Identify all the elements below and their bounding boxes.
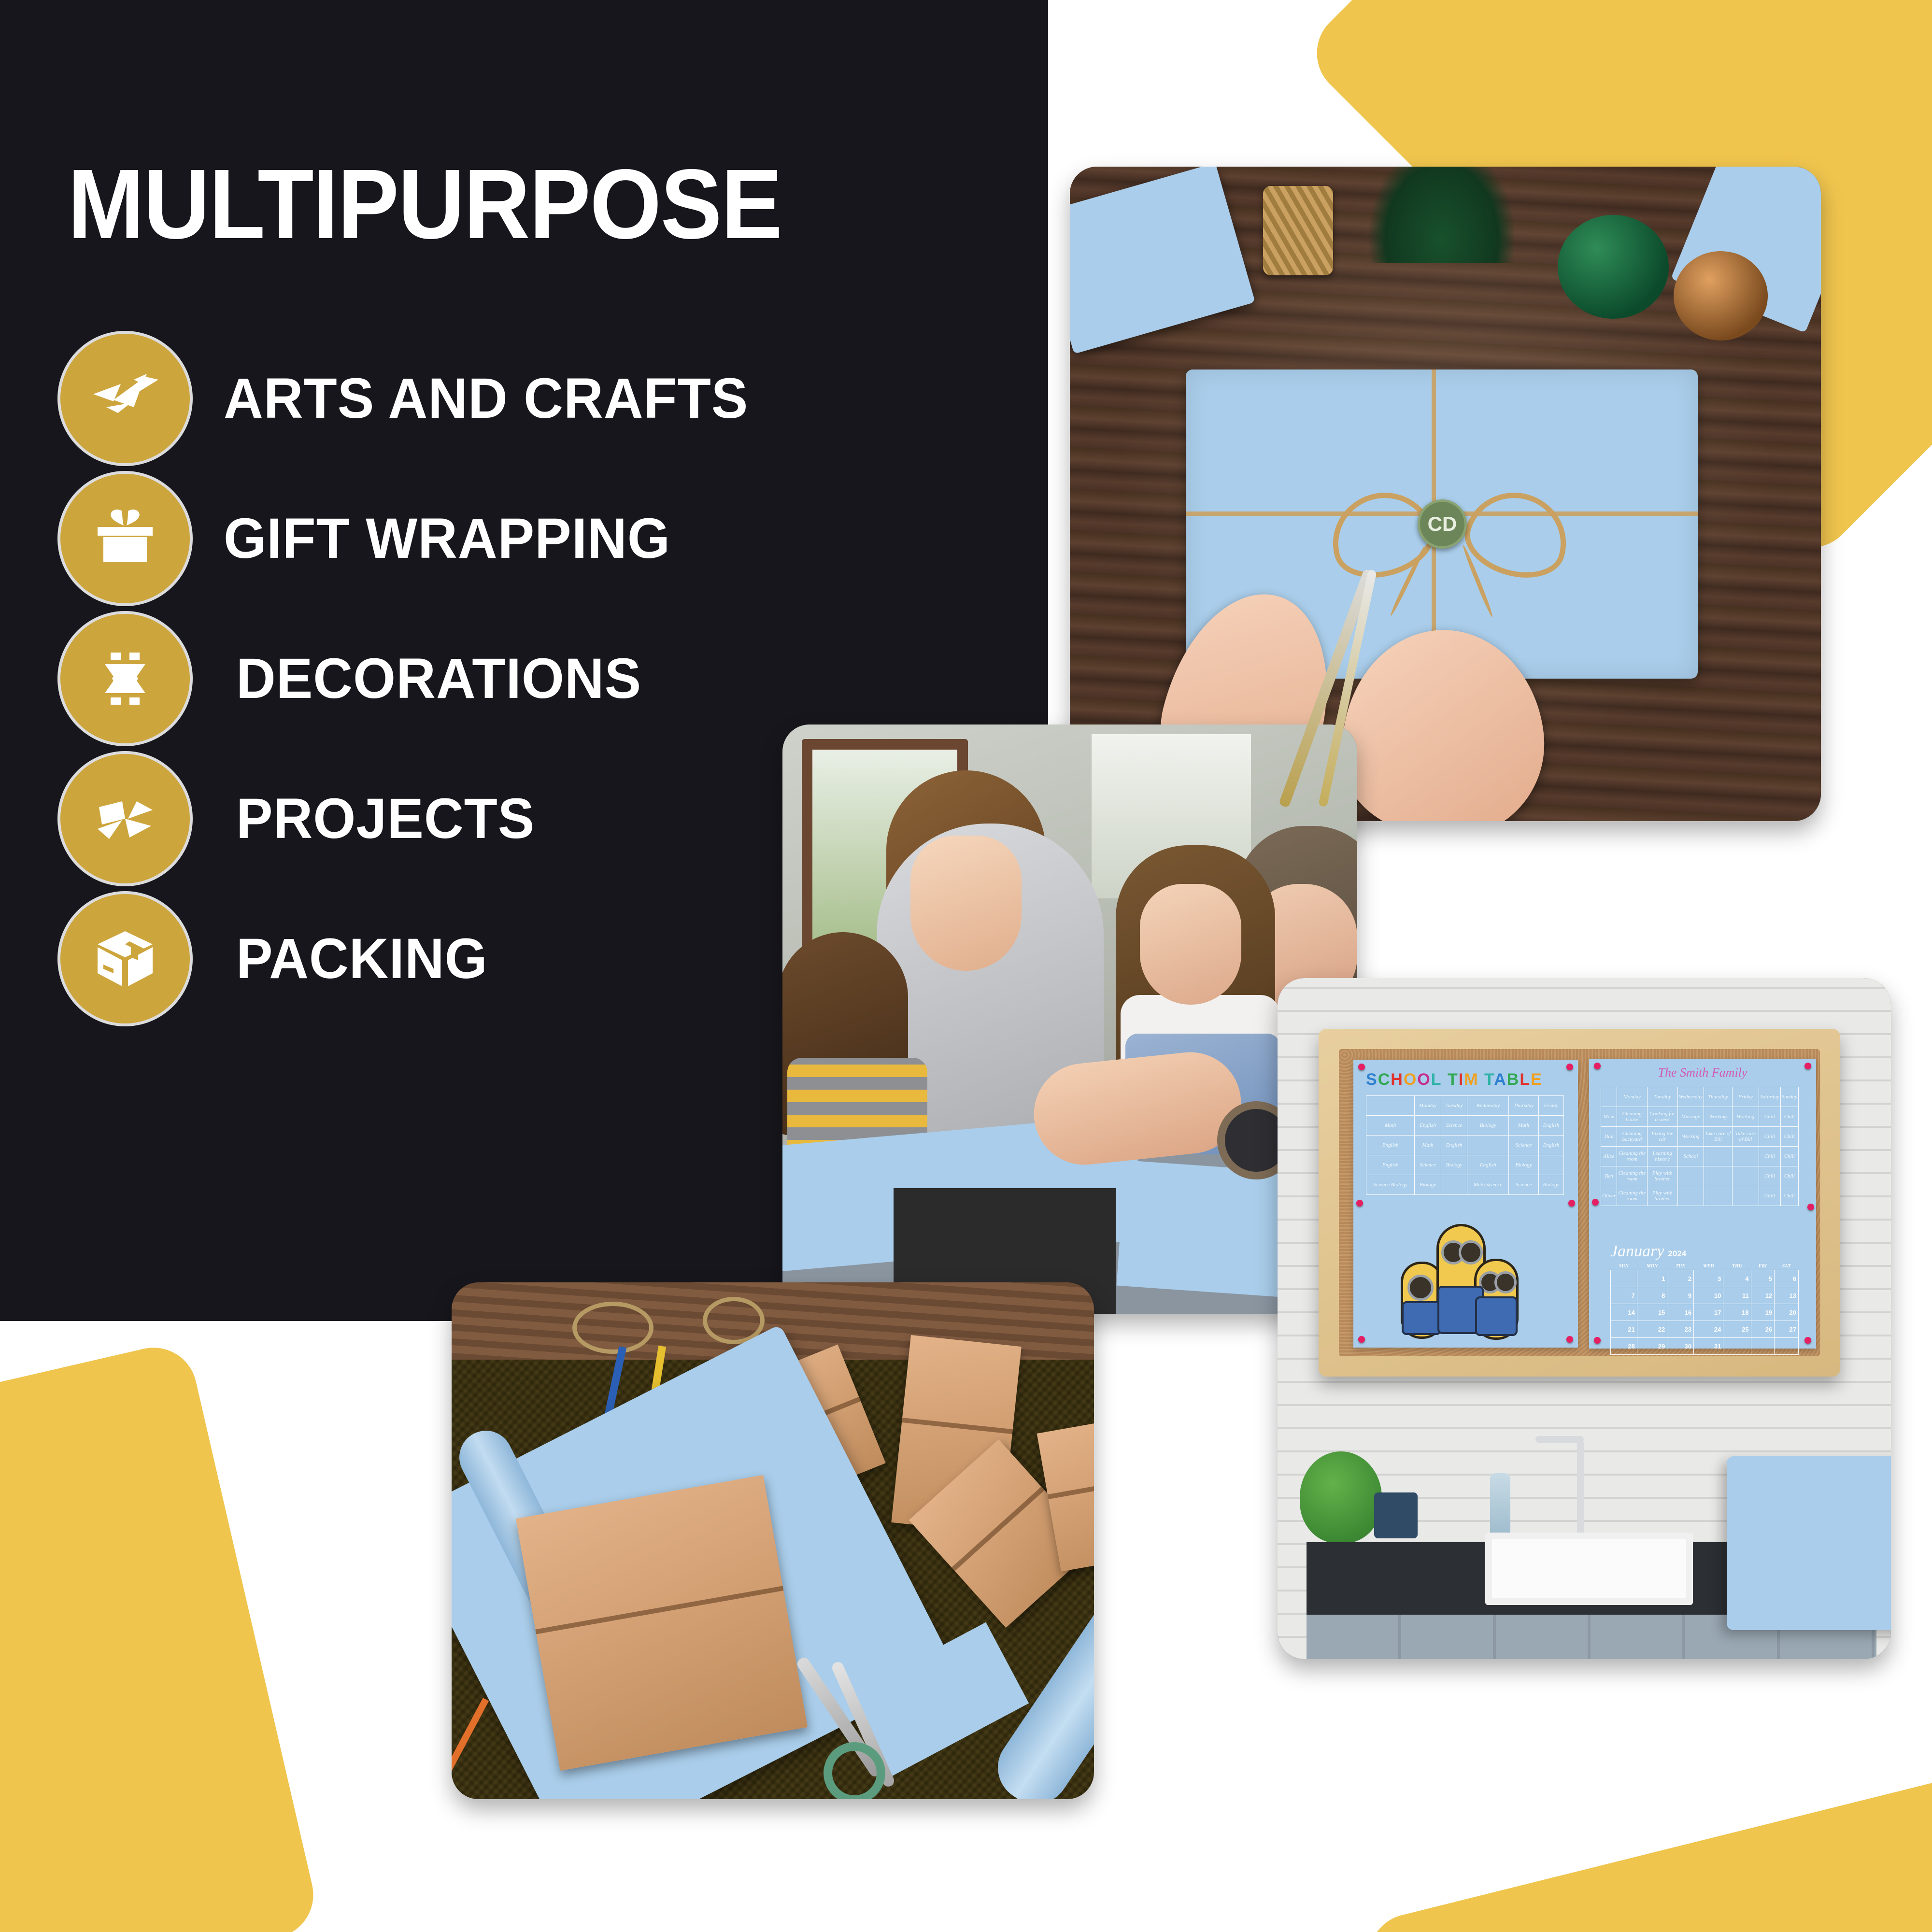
calendar-week: 123456 xyxy=(1611,1270,1799,1287)
calendar-week: 78910111213 xyxy=(1611,1287,1799,1304)
push-pin xyxy=(1804,1337,1811,1344)
kitchen-sink xyxy=(1485,1533,1693,1605)
mother-face xyxy=(910,836,1022,971)
weekday-header: MON xyxy=(1637,1263,1667,1270)
table-cell: Cleaning the room xyxy=(1617,1186,1647,1206)
column-header: Friday xyxy=(1538,1096,1563,1116)
calendar-heading: January2024 xyxy=(1610,1242,1799,1261)
push-pin xyxy=(1594,1337,1601,1344)
table-cell: Biology xyxy=(1467,1116,1509,1136)
push-pin xyxy=(1566,1064,1573,1070)
calendar-day: 12 xyxy=(1751,1287,1775,1304)
column-header xyxy=(1366,1096,1415,1116)
calendar-day xyxy=(1751,1338,1775,1355)
table-cell: Massage xyxy=(1677,1107,1704,1127)
timetable-title: SCHOOL TIM TABLE xyxy=(1366,1070,1564,1089)
calendar-day: 31 xyxy=(1694,1338,1723,1355)
table-cell xyxy=(1677,1166,1704,1186)
twine-spool xyxy=(1263,186,1333,275)
push-pin xyxy=(1568,1200,1575,1207)
table-cell: Cleaning backyard xyxy=(1617,1127,1647,1147)
page-title: MULTIPURPOSE xyxy=(68,155,921,254)
table-cell xyxy=(1732,1186,1759,1206)
gift-box-icon xyxy=(60,474,190,603)
calendar-day: 24 xyxy=(1694,1321,1723,1338)
table-row: MathEnglishScienceBiologyMathEnglish xyxy=(1366,1116,1564,1136)
kraft-box-main xyxy=(516,1475,808,1771)
calendar-year: 2024 xyxy=(1668,1249,1686,1258)
calendar-day xyxy=(1775,1338,1799,1355)
table-cell xyxy=(1677,1186,1704,1206)
potted-plant xyxy=(1300,1451,1382,1543)
calendar-day: 17 xyxy=(1694,1304,1723,1321)
minion-overalls xyxy=(1402,1301,1441,1335)
feature-label: ARTS AND CRAFTS xyxy=(224,366,748,431)
table-cell xyxy=(1704,1147,1732,1166)
kitchen-whiteboard-photo: SCHOOL TIM TABLE MondayTuesdayWednesdayT… xyxy=(1278,978,1891,1659)
table-cell: Cleaning the room xyxy=(1617,1166,1647,1186)
table-cell xyxy=(1467,1136,1509,1155)
table-cell: English xyxy=(1366,1155,1415,1175)
poster-canvas: MULTIPURPOSE ARTS AND CRAFTS GIFT WRAPPI… xyxy=(0,0,1932,1932)
goggle-icon xyxy=(1459,1240,1483,1264)
table-cell: Working xyxy=(1677,1127,1704,1147)
mini-christmas-tree xyxy=(1369,167,1514,263)
scissors-handle-ring xyxy=(824,1742,885,1799)
table-cell: Science xyxy=(1509,1136,1539,1155)
table-row: EnglishMathEnglishScienceEnglish xyxy=(1366,1136,1564,1155)
table-cell: Science xyxy=(1509,1175,1539,1195)
origami-crane-icon xyxy=(60,334,190,463)
table-cell: Play with brother xyxy=(1647,1186,1677,1206)
table-cell xyxy=(1441,1175,1467,1195)
table-cell: Oliver xyxy=(1601,1186,1617,1206)
calendar-day: 19 xyxy=(1751,1304,1775,1321)
table-cell: Take care of Bill xyxy=(1704,1127,1732,1147)
calendar-day: 21 xyxy=(1611,1321,1637,1338)
calendar-day xyxy=(1723,1338,1751,1355)
table-cell: Play with brother xyxy=(1647,1166,1677,1186)
calendar-day: 16 xyxy=(1667,1304,1694,1321)
timetable-grid: MondayTuesdayWednesdayThursdayFridayMath… xyxy=(1366,1095,1564,1195)
calendar-day: 27 xyxy=(1775,1321,1799,1338)
school-timetable-sheet: SCHOOL TIM TABLE MondayTuesdayWednesdayT… xyxy=(1353,1060,1578,1348)
calendar-day xyxy=(1611,1270,1637,1287)
table-cell: Take care of Bill xyxy=(1732,1127,1759,1147)
table-cell: Science xyxy=(1415,1155,1441,1175)
family-chart-title: The Smith Family xyxy=(1589,1065,1816,1080)
column-header xyxy=(1601,1087,1617,1107)
table-cell: English xyxy=(1366,1136,1415,1155)
calendar-day: 25 xyxy=(1723,1321,1751,1338)
table-cell: Biology xyxy=(1441,1155,1467,1175)
table-row: DadCleaning backyardFixing the carWorkin… xyxy=(1601,1127,1799,1147)
table-cell: Chill xyxy=(1759,1147,1780,1166)
table-cell: Chill xyxy=(1780,1107,1798,1127)
table-row: EnglishScienceBiologyEnglishBiology xyxy=(1366,1155,1564,1175)
table-cell: English xyxy=(1467,1155,1509,1175)
goggle-icon xyxy=(1407,1275,1434,1301)
feature-label: DECORATIONS xyxy=(236,646,641,711)
table-cell: Biology xyxy=(1538,1175,1563,1195)
feature-label: GIFT WRAPPING xyxy=(224,506,670,571)
lantern-icon xyxy=(60,614,190,743)
family-planner-sheet: The Smith Family MondayTuesdayWednesdayT… xyxy=(1589,1059,1816,1349)
column-header: Thursday xyxy=(1509,1096,1539,1116)
calendar-month: January xyxy=(1610,1242,1664,1260)
table-cell: Alice xyxy=(1601,1147,1617,1166)
calendar-day: 22 xyxy=(1637,1321,1667,1338)
table-cell: English xyxy=(1538,1136,1563,1155)
weekday-header: THU xyxy=(1723,1263,1751,1270)
table-cell: Ben xyxy=(1601,1166,1617,1186)
table-cell: Chill xyxy=(1759,1127,1780,1147)
calendar-day: 14 xyxy=(1611,1304,1637,1321)
calendar-day: 18 xyxy=(1723,1304,1751,1321)
table-cell: Chill xyxy=(1780,1147,1798,1166)
weekday-header: WED xyxy=(1694,1263,1723,1270)
calendar-day: 7 xyxy=(1611,1287,1637,1304)
minion-characters xyxy=(1397,1224,1518,1335)
utensil-holder xyxy=(1374,1492,1418,1538)
table-cell: Science xyxy=(1441,1116,1467,1136)
column-header: Tuesday xyxy=(1647,1087,1677,1107)
column-header: Sunday xyxy=(1780,1087,1798,1107)
push-pin xyxy=(1566,1336,1573,1343)
weekday-header: FRI xyxy=(1751,1263,1775,1270)
table-row: Science BiologyBiologyMath ScienceScienc… xyxy=(1366,1175,1564,1195)
family-chore-grid: MondayTuesdayWednesdayThursdayFridaySatu… xyxy=(1601,1087,1799,1206)
table-cell: Mom xyxy=(1601,1107,1617,1127)
girl-face xyxy=(1140,884,1241,1005)
calendar-day: 13 xyxy=(1775,1287,1799,1304)
calendar-day: 15 xyxy=(1637,1304,1667,1321)
table-cell xyxy=(1732,1166,1759,1186)
monthly-calendar: January2024 SUNMONTUEWEDTHUFRISAT1234567… xyxy=(1610,1242,1799,1355)
calendar-day: 28 xyxy=(1611,1338,1637,1355)
column-header: Monday xyxy=(1415,1096,1441,1116)
kitchen-faucet xyxy=(1577,1442,1584,1543)
weekday-header: SAT xyxy=(1775,1263,1799,1270)
calendar-week: 14151617181920 xyxy=(1611,1304,1799,1321)
table-cell: English xyxy=(1538,1116,1563,1136)
calendar-grid: SUNMONTUEWEDTHUFRISAT1234567891011121314… xyxy=(1610,1263,1799,1355)
table-cell: Science Biology xyxy=(1366,1175,1415,1195)
calendar-day: 4 xyxy=(1723,1270,1751,1287)
table-cell: School xyxy=(1677,1147,1704,1166)
calendar-day: 30 xyxy=(1667,1338,1694,1355)
calendar-day: 5 xyxy=(1751,1270,1775,1287)
calendar-day: 6 xyxy=(1775,1270,1799,1287)
table-row: OliverCleaning the roomPlay with brother… xyxy=(1601,1186,1799,1206)
table-cell: Math Science xyxy=(1467,1175,1509,1195)
push-pin xyxy=(1358,1336,1365,1343)
table-cell: Chill xyxy=(1759,1186,1780,1206)
goggle-icon xyxy=(1494,1271,1517,1293)
table-cell: Chill xyxy=(1780,1186,1798,1206)
table-cell: Math xyxy=(1415,1136,1441,1155)
table-cell: Chill xyxy=(1780,1166,1798,1186)
wooden-frame: SCHOOL TIM TABLE MondayTuesdayWednesdayT… xyxy=(1319,1029,1840,1377)
table-cell: Fixing the car xyxy=(1647,1127,1677,1147)
column-header: Monday xyxy=(1617,1087,1647,1107)
calendar-day: 10 xyxy=(1694,1287,1723,1304)
pinwheel-icon xyxy=(60,754,190,883)
gift-wrapping-photo: CD xyxy=(1070,167,1821,821)
table-row: AliceCleaning the roomLearning historySc… xyxy=(1601,1147,1799,1166)
table-cell: Chill xyxy=(1759,1107,1780,1127)
twine-loop-a xyxy=(572,1302,653,1354)
bronze-ornament xyxy=(1674,251,1768,341)
calendar-day: 23 xyxy=(1667,1321,1694,1338)
column-header: Tuesday xyxy=(1441,1096,1467,1116)
feature-item-gift-wrapping[interactable]: GIFT WRAPPING xyxy=(60,469,1002,609)
table-cell: Cleaning the room xyxy=(1617,1147,1647,1166)
table-cell: Working xyxy=(1704,1107,1732,1127)
table-cell: Dad xyxy=(1601,1127,1617,1147)
table-cell: English xyxy=(1441,1136,1467,1155)
minion-overalls xyxy=(1475,1296,1518,1336)
weekday-header: SUN xyxy=(1611,1263,1637,1270)
push-pin xyxy=(1358,1064,1365,1070)
table-cell: Biology xyxy=(1415,1175,1441,1195)
push-pin xyxy=(1592,1199,1599,1206)
packing-photo xyxy=(452,1282,1094,1799)
column-header: Friday xyxy=(1732,1087,1759,1107)
package-box-icon xyxy=(60,894,190,1023)
column-header: Wednesday xyxy=(1467,1096,1509,1116)
feature-item-arts-and-crafts[interactable]: ARTS AND CRAFTS xyxy=(60,328,1002,469)
table-cell: Learning history xyxy=(1647,1147,1677,1166)
green-ornament xyxy=(1558,215,1669,319)
table-row: BenCleaning the roomPlay with brotherChi… xyxy=(1601,1166,1799,1186)
table-cell: Math xyxy=(1509,1116,1539,1136)
calendar-day: 2 xyxy=(1667,1270,1694,1287)
calendar-week: 21222324252627 xyxy=(1611,1321,1799,1338)
family-crafts-photo xyxy=(782,724,1357,1314)
table-cell: Cleaning house xyxy=(1617,1107,1647,1127)
table-cell: English xyxy=(1415,1116,1441,1136)
table-cell: Math xyxy=(1366,1116,1415,1136)
column-header: Wednesday xyxy=(1677,1087,1704,1107)
calendar-day: 1 xyxy=(1637,1270,1667,1287)
weekday-header: TUE xyxy=(1667,1263,1694,1270)
table-cell xyxy=(1704,1166,1732,1186)
soap-dispenser xyxy=(1490,1473,1510,1536)
table-cell: Chill xyxy=(1780,1127,1798,1147)
feature-label: PROJECTS xyxy=(236,786,535,852)
column-header: Saturday xyxy=(1759,1087,1780,1107)
table-cell: Cooking for a week xyxy=(1647,1107,1677,1127)
feature-label: PACKING xyxy=(236,926,488,992)
table-cell xyxy=(1538,1155,1563,1175)
blue-paper-roll xyxy=(1727,1456,1891,1630)
table-cell xyxy=(1704,1186,1732,1206)
calendar-day: 3 xyxy=(1694,1270,1723,1287)
calendar-week: 28293031 xyxy=(1611,1338,1799,1355)
calendar-day: 20 xyxy=(1775,1304,1799,1321)
table-cell: Biology xyxy=(1509,1155,1539,1175)
column-header: Thursday xyxy=(1704,1087,1732,1107)
calendar-day: 8 xyxy=(1637,1287,1667,1304)
accent-shape-bottom-right xyxy=(1360,1739,1932,1932)
calendar-day: 29 xyxy=(1637,1338,1667,1355)
calendar-day: 9 xyxy=(1667,1287,1694,1304)
table-cell: Working xyxy=(1732,1107,1759,1127)
calendar-day: 26 xyxy=(1751,1321,1775,1338)
push-pin xyxy=(1807,1204,1814,1210)
calendar-day: 11 xyxy=(1723,1287,1751,1304)
table-row: MomCleaning houseCooking for a weekMassa… xyxy=(1601,1107,1799,1127)
wax-seal: CD xyxy=(1418,499,1467,549)
push-pin xyxy=(1356,1200,1363,1207)
table-cell: Chill xyxy=(1759,1166,1780,1186)
accent-shape-bottom-left xyxy=(0,1339,322,1932)
table-cell xyxy=(1732,1147,1759,1166)
